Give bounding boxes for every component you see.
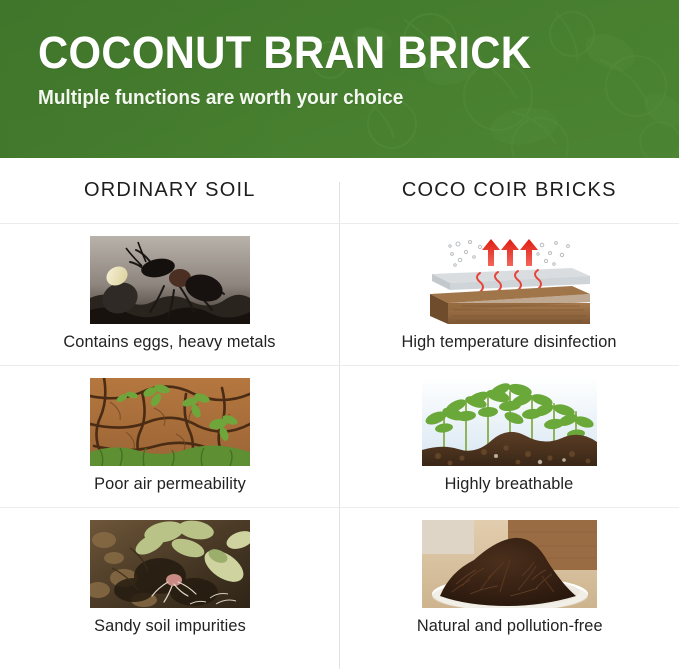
caption-text: Sandy soil impurities [94,616,246,636]
sandy-soil-with-debris-and-leaves-image [90,520,250,608]
table-row: Contains eggs, heavy metals [0,223,679,365]
cell-coco-coir-row2: Highly breathable [340,366,679,507]
cell-coco-coir-row3: Natural and pollution-free [340,508,679,649]
cell-ordinary-soil-row3: Sandy soil impurities [0,508,340,649]
column-header-coco-coir-bricks: COCO COIR BRICKS [340,158,679,223]
ant-carrying-egg-on-soil-image [90,236,250,324]
caption-text: Poor air permeability [94,474,246,494]
coco-peat-pile-on-white-plate-image [422,520,597,608]
table-row: Poor air permeability [0,365,679,507]
header-text-block: COCONUT BRAN BRICK Multiple functions ar… [38,28,568,110]
page-header: COCONUT BRAN BRICK Multiple functions ar… [0,0,679,158]
cell-ordinary-soil-row1: Contains eggs, heavy metals [0,224,340,365]
seedlings-growing-in-loose-soil-image [422,378,597,466]
caption-text: Highly breathable [445,474,574,494]
table-row: Sandy soil impurities [0,507,679,649]
cell-coco-coir-row1: High temperature disinfection [340,224,679,365]
cell-ordinary-soil-row2: Poor air permeability [0,366,340,507]
page-subtitle: Multiple functions are worth your choice [38,86,542,110]
coir-brick-heat-disinfection-image [422,236,597,324]
page-title: COCONUT BRAN BRICK [38,28,531,78]
cracked-dry-soil-with-weeds-image [90,378,250,466]
comparison-table: ORDINARY SOIL COCO COIR BRICKS [0,158,679,669]
column-header-ordinary-soil: ORDINARY SOIL [0,158,340,223]
caption-text: Contains eggs, heavy metals [64,332,276,352]
table-column-headers: ORDINARY SOIL COCO COIR BRICKS [0,158,679,223]
caption-text: Natural and pollution-free [416,616,602,636]
caption-text: High temperature disinfection [402,332,617,352]
